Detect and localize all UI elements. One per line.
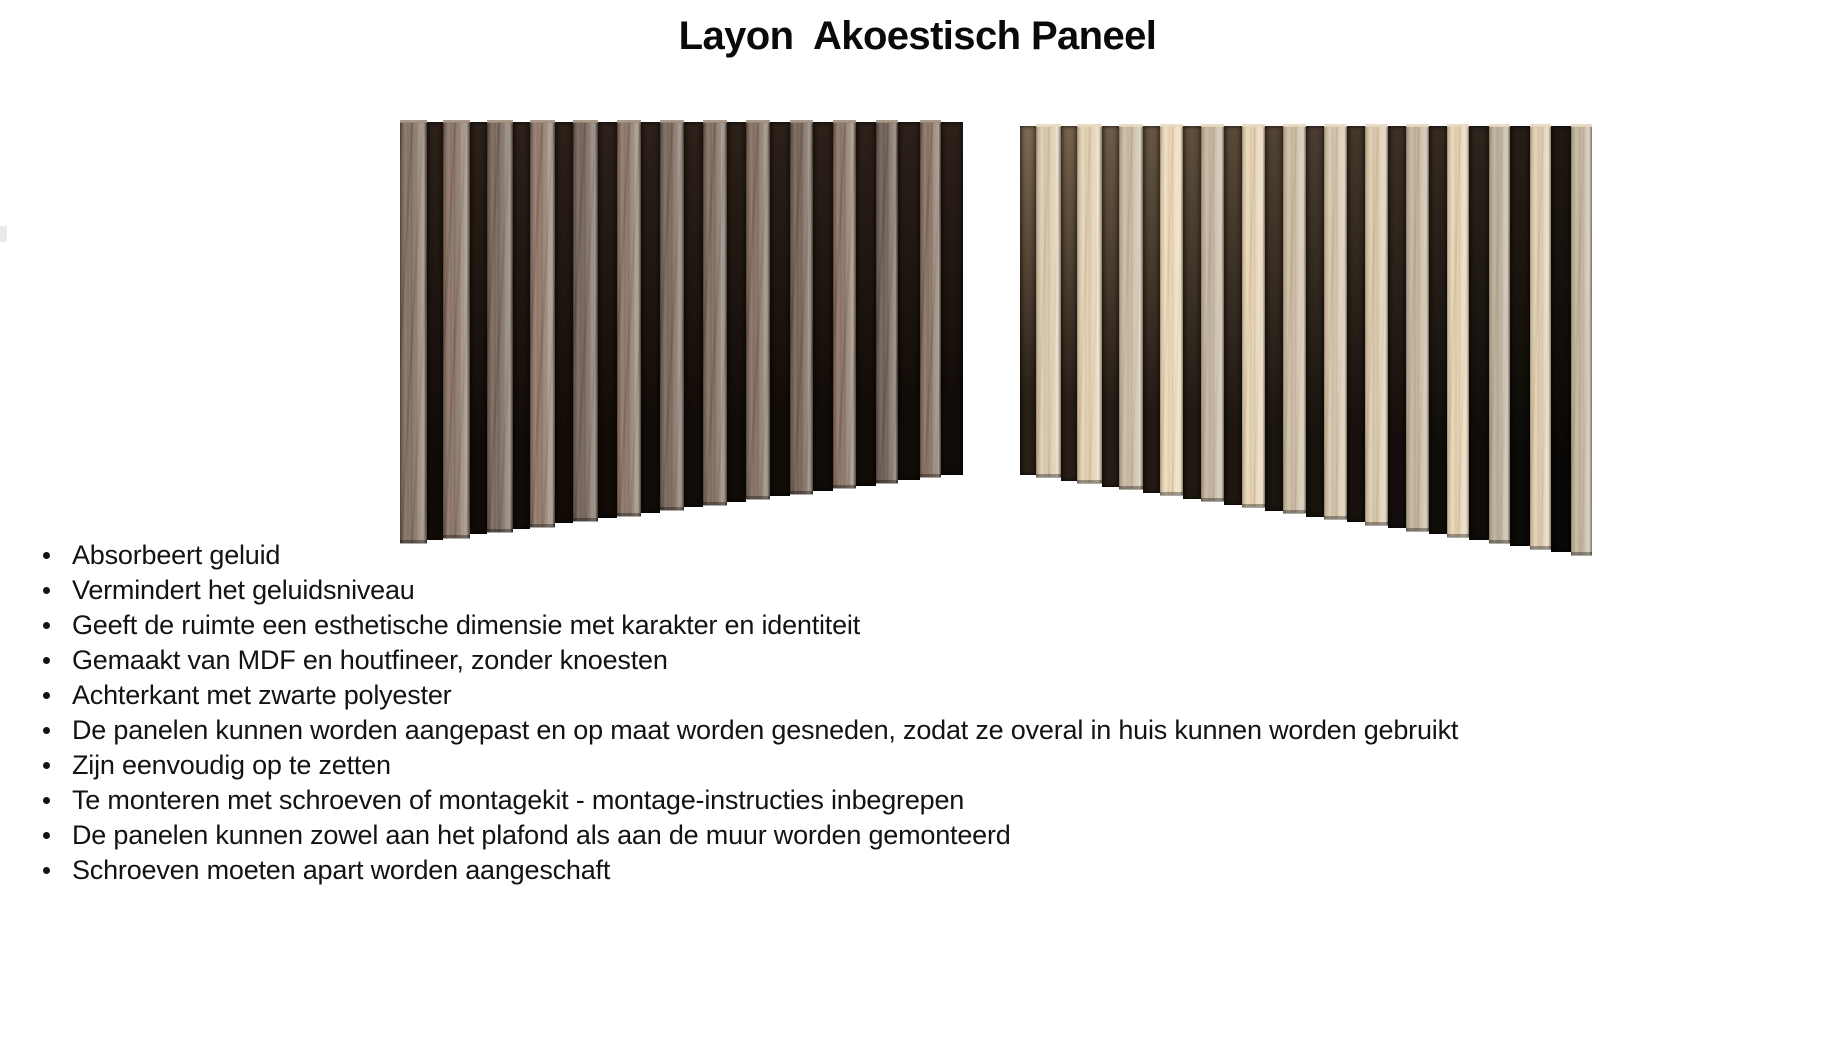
panel-slat bbox=[1489, 126, 1511, 543]
product-image-gallery bbox=[0, 0, 1835, 600]
panel-slat bbox=[1201, 126, 1225, 501]
slat-top-cap bbox=[1077, 124, 1101, 127]
slat-top-cap bbox=[1036, 124, 1061, 127]
feature-list-item: Absorbeert geluid bbox=[30, 538, 1830, 573]
slat-top-cap bbox=[1201, 124, 1225, 127]
feature-text: Achterkant met zwarte polyester bbox=[72, 680, 451, 710]
slat-bottom-edge bbox=[1077, 480, 1101, 484]
slat-edge-shading bbox=[1406, 126, 1428, 531]
slat-bottom-edge bbox=[1036, 474, 1061, 478]
slat-top-cap bbox=[1365, 124, 1388, 127]
slat-top-cap bbox=[1530, 124, 1551, 127]
slat-edge-shading bbox=[1077, 126, 1101, 483]
slat-bottom-edge bbox=[1324, 516, 1347, 520]
slat-top-cap bbox=[1489, 124, 1511, 127]
slat-top-cap bbox=[1283, 124, 1306, 127]
slat-top-cap bbox=[1406, 124, 1428, 127]
panel-slat bbox=[1406, 126, 1428, 531]
slat-bottom-edge bbox=[1283, 510, 1306, 514]
feature-text: Vermindert het geluidsniveau bbox=[72, 575, 415, 605]
feature-text: Zijn eenvoudig op te zetten bbox=[72, 750, 391, 780]
feature-text: Te monteren met schroeven of montagekit … bbox=[72, 785, 964, 815]
feature-text: Geeft de ruimte een esthetische dimensie… bbox=[72, 610, 860, 640]
slat-edge-shading bbox=[1489, 126, 1511, 543]
panel-slat-gap bbox=[1388, 126, 1407, 528]
slat-top-cap bbox=[1119, 124, 1143, 127]
bullet-icon bbox=[43, 797, 50, 804]
bullet-icon bbox=[43, 657, 50, 664]
feature-list-item: Geeft de ruimte een esthetische dimensie… bbox=[30, 608, 1830, 643]
feature-list-item: Gemaakt van MDF en houtfineer, zonder kn… bbox=[30, 643, 1830, 678]
bullet-icon bbox=[43, 552, 50, 559]
light-oak-acoustic-panel-image bbox=[0, 0, 1835, 600]
slat-edge-shading bbox=[1571, 126, 1592, 555]
slat-bottom-edge bbox=[1365, 522, 1388, 526]
feature-text: De panelen kunnen worden aangepast en op… bbox=[72, 715, 1458, 745]
panel-slat bbox=[1036, 126, 1061, 477]
feature-text: Gemaakt van MDF en houtfineer, zonder kn… bbox=[72, 645, 668, 675]
feature-list-item: De panelen kunnen zowel aan het plafond … bbox=[30, 818, 1830, 853]
slat-edge-shading bbox=[1283, 126, 1306, 513]
slat-top-cap bbox=[1571, 124, 1592, 127]
bullet-icon bbox=[43, 692, 50, 699]
panel-slat-gap bbox=[1020, 126, 1036, 475]
panel-slat-gap bbox=[1143, 126, 1160, 493]
slat-edge-shading bbox=[1365, 126, 1388, 525]
panel-slat bbox=[1324, 126, 1347, 519]
panel-slat-gap bbox=[1469, 126, 1488, 540]
bullet-icon bbox=[43, 832, 50, 839]
slat-bottom-edge bbox=[1406, 528, 1428, 532]
panel-slat bbox=[1077, 126, 1101, 483]
feature-text: Absorbeert geluid bbox=[72, 540, 280, 570]
panel-slat bbox=[1365, 126, 1388, 525]
feature-list-item: Schroeven moeten apart worden aangeschaf… bbox=[30, 853, 1830, 888]
slat-edge-shading bbox=[1119, 126, 1143, 489]
slat-bottom-edge bbox=[1160, 492, 1184, 496]
slat-edge-shading bbox=[1160, 126, 1184, 495]
panel-slat-gap bbox=[1510, 126, 1529, 546]
slat-top-cap bbox=[1160, 124, 1184, 127]
slat-top-cap bbox=[1242, 124, 1265, 127]
panel-slat-gap bbox=[1347, 126, 1365, 522]
panel-slat bbox=[1160, 126, 1184, 495]
slat-top-cap bbox=[1447, 124, 1469, 127]
panel-slat bbox=[1119, 126, 1143, 489]
slat-edge-shading bbox=[1530, 126, 1551, 549]
feature-list-item: Zijn eenvoudig op te zetten bbox=[30, 748, 1830, 783]
panel-slat bbox=[1283, 126, 1306, 513]
panel-slat bbox=[1242, 126, 1265, 507]
product-page: Layon Akoestisch Paneel Absorbeert gelui… bbox=[0, 0, 1835, 1048]
panel-slat-gap bbox=[1183, 126, 1200, 499]
feature-list-item: De panelen kunnen worden aangepast en op… bbox=[30, 713, 1830, 748]
bullet-icon bbox=[43, 587, 50, 594]
feature-text: Schroeven moeten apart worden aangeschaf… bbox=[72, 855, 610, 885]
panel-slat-gap bbox=[1102, 126, 1119, 487]
slat-edge-shading bbox=[1242, 126, 1265, 507]
bullet-icon bbox=[43, 762, 50, 769]
feature-list-item: Achterkant met zwarte polyester bbox=[30, 678, 1830, 713]
slat-edge-shading bbox=[1324, 126, 1347, 519]
slat-edge-shading bbox=[1447, 126, 1469, 537]
feature-list: Absorbeert geluidVermindert het geluidsn… bbox=[30, 538, 1830, 888]
panel-slat bbox=[1571, 126, 1592, 555]
panel-slat-gap bbox=[1551, 126, 1571, 552]
panel-slat-gap bbox=[1224, 126, 1242, 505]
slat-bottom-edge bbox=[1242, 504, 1265, 508]
bullet-icon bbox=[43, 867, 50, 874]
slat-bottom-edge bbox=[1201, 498, 1225, 502]
panel-slat-gap bbox=[1061, 126, 1078, 481]
slat-bottom-edge bbox=[1119, 486, 1143, 490]
slat-edge-shading bbox=[1036, 126, 1061, 477]
slat-top-cap bbox=[1324, 124, 1347, 127]
feature-list-item: Te monteren met schroeven of montagekit … bbox=[30, 783, 1830, 818]
slat-edge-shading bbox=[1201, 126, 1225, 501]
panel-slat bbox=[1530, 126, 1551, 549]
feature-text: De panelen kunnen zowel aan het plafond … bbox=[72, 820, 1011, 850]
panel-slat bbox=[1447, 126, 1469, 537]
panel-slat-gap bbox=[1429, 126, 1448, 534]
bullet-icon bbox=[43, 727, 50, 734]
panel-slat-gap bbox=[1306, 126, 1324, 517]
panel-slat-gap bbox=[1265, 126, 1283, 511]
bullet-icon bbox=[43, 622, 50, 629]
feature-list-item: Vermindert het geluidsniveau bbox=[30, 573, 1830, 608]
